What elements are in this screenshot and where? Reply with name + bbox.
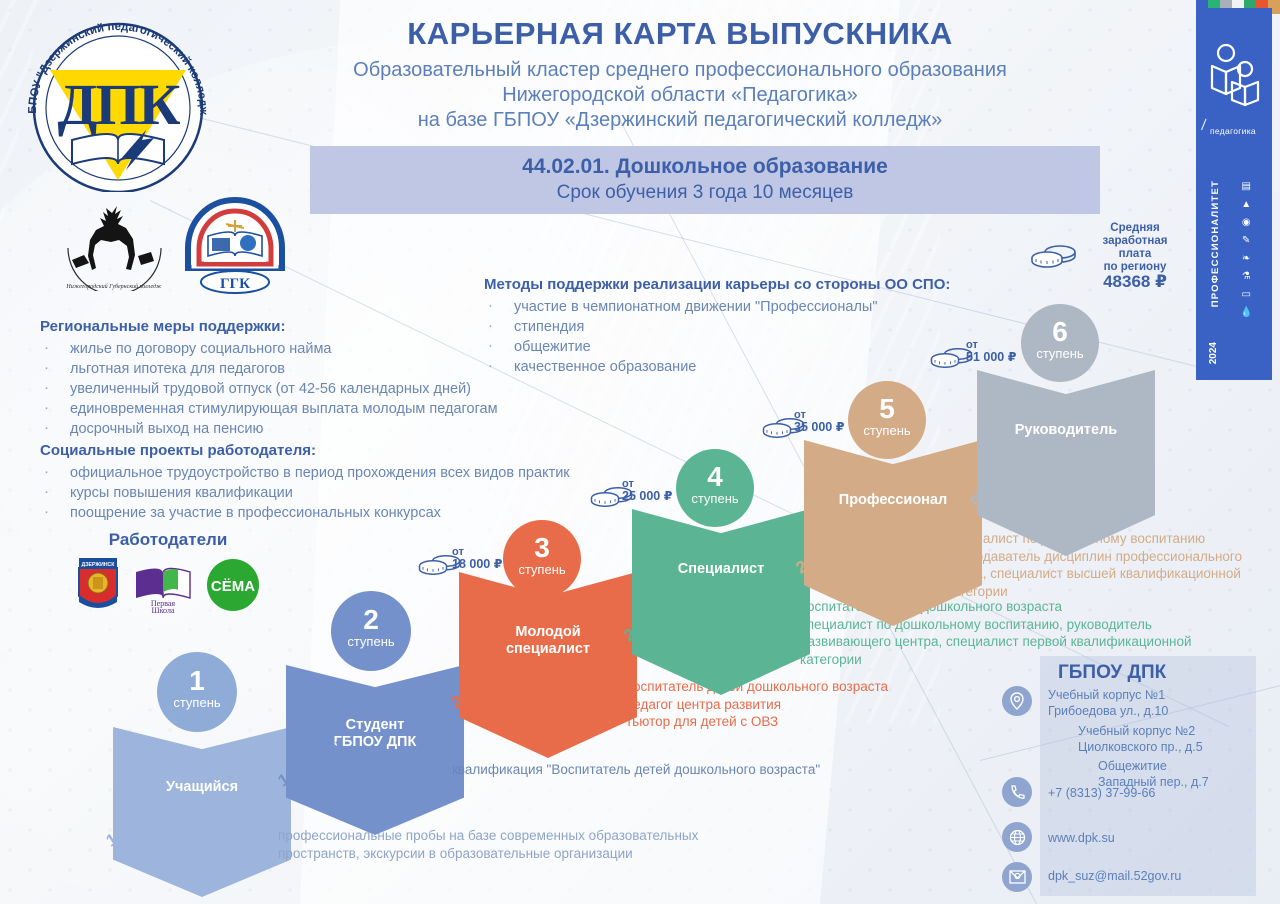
social-list: официальное трудоустройство в период про…	[40, 463, 620, 523]
regional-support-block: Региональные меры поддержки: жилье по до…	[40, 318, 600, 439]
list-item: участие в чемпионатном движении "Професс…	[484, 297, 1004, 317]
address-3-line-1: Общежитие	[1098, 758, 1209, 774]
list-item: жилье по договору социального найма	[40, 339, 600, 359]
address-1: Учебный корпус №1 Грибоедова ул., д.10	[1048, 687, 1168, 719]
subtitle-line-3: на базе ГБПОУ «Дзержинский педагогически…	[230, 108, 1130, 133]
globe-icon	[1002, 822, 1032, 852]
page-subtitle: Образовательный кластер среднего професс…	[230, 58, 1130, 133]
career-step-description-3: воспитатель детей дошкольного возрастапе…	[626, 678, 926, 731]
average-salary-amount: 48368 ₽	[1080, 275, 1190, 288]
sidebar-cluster-label: педагогика	[1210, 126, 1256, 136]
employer-logo-dzerzhinsk: ДЗЕРЖИНСК	[76, 556, 120, 614]
salary-amount: 35 000 ₽	[794, 421, 844, 433]
description-line: образовательной	[1038, 486, 1218, 504]
career-step-badge-1[interactable]: 1ступень	[157, 652, 237, 732]
phone-number[interactable]: +7 (8313) 37-99-66	[1048, 785, 1155, 801]
professionalitet-sidebar: педагогика ПРОФЕССИОНАЛИТЕТ 2024 ▤ ▲ ◉ ✎…	[1196, 8, 1272, 380]
average-salary-line-2: заработная	[1080, 235, 1190, 248]
step-number: 2	[331, 605, 411, 635]
sidebar-year: 2024	[1208, 342, 1219, 364]
step-word: ступень	[157, 696, 237, 710]
subtitle-line-2: Нижегородской области «Педагогика»	[230, 83, 1130, 108]
employer-logo-sema: СЁМА	[206, 558, 260, 612]
step-number: 3	[503, 533, 581, 563]
average-salary-callout: Средняя заработная плата по региону 4836…	[1080, 222, 1190, 288]
description-line: организации	[1038, 503, 1218, 521]
course-duration: Срок обучения 3 года 10 месяцев	[310, 179, 1100, 204]
step-number: 5	[848, 394, 926, 424]
infographic-poster: ГБПОУ "Дзержинский педагогический коллед…	[0, 0, 1280, 904]
social-heading: Социальные проекты работодателя:	[40, 442, 620, 459]
social-projects-block: Социальные проекты работодателя: официал…	[40, 442, 620, 523]
career-step-role-4: Специалист	[632, 561, 810, 578]
leaf-icon: ❧	[1242, 254, 1250, 264]
qualification-note: квалификация "Воспитатель детей дошкольн…	[452, 761, 912, 779]
description-line: преподаватель дисциплин профессиональног…	[946, 548, 1246, 566]
course-banner: 44.02.01. Дошкольное образование Срок об…	[310, 146, 1100, 214]
step-number: 6	[1021, 317, 1099, 347]
email-address[interactable]: dpk_suz@mail.52gov.ru	[1048, 868, 1181, 884]
card-icon: ▤	[1242, 182, 1251, 192]
address-2-line-2: Циолковского пр., д.5	[1078, 739, 1203, 755]
role-line: Профессионал	[804, 492, 982, 509]
employers-block: Работодатели ДЗЕРЖИНСК Первая Школа СЁМА	[48, 530, 288, 614]
drop-icon: 💧	[1240, 308, 1252, 318]
email-icon	[1002, 862, 1032, 892]
address-1-line-2: Грибоедова ул., д.10	[1048, 703, 1168, 719]
salary-amount: 25 000 ₽	[622, 490, 672, 502]
probes-line-1: профессиональные пробы на базе современн…	[278, 827, 758, 845]
role-line: Учащийся	[113, 779, 291, 796]
role-line: Специалист	[632, 561, 810, 578]
step-word: ступень	[676, 492, 754, 506]
svg-text:ГГК: ГГК	[220, 276, 250, 292]
career-step-badge-4[interactable]: 4ступень	[676, 449, 754, 527]
list-item: льготная ипотека для педагогов	[40, 359, 600, 379]
role-line: Руководитель	[977, 422, 1155, 439]
average-salary-line-3: плата	[1080, 248, 1190, 261]
employer-logo-pervaya-shkola: Первая Школа	[132, 556, 194, 614]
list-item: увеличенный трудовой отпуск (от 42-56 ка…	[40, 379, 600, 399]
svg-text:СЁМА: СЁМА	[211, 578, 255, 595]
flask-icon: ⚗	[1242, 272, 1251, 282]
description-line: специалист по дошкольному воспитанию, ру…	[800, 616, 1220, 634]
salary-amount: 18 000 ₽	[452, 558, 502, 570]
phone-icon	[1002, 777, 1032, 807]
salary-amount: 51 000 ₽	[966, 351, 1016, 363]
list-item: досрочный выход на пенсию	[40, 419, 600, 439]
career-step-role-1: Учащийся	[113, 779, 291, 796]
career-step-role-2: СтудентГБПОУ ДПК	[286, 717, 464, 751]
dpk-logo: ГБПОУ "Дзержинский педагогический коллед…	[14, 12, 219, 192]
career-step-badge-3[interactable]: 3ступень	[503, 520, 581, 598]
career-step-role-5: Профессионал	[804, 492, 982, 509]
employers-heading: Работодатели	[48, 530, 288, 550]
step-word: ступень	[848, 424, 926, 438]
list-item: курсы повышения квалификации	[40, 483, 620, 503]
reader-book-icon	[1208, 42, 1264, 110]
career-step-badge-6[interactable]: 6ступень	[1021, 304, 1099, 382]
bus-icon: ▭	[1242, 290, 1251, 300]
ngk-logo: Нижегородский Губернский колледж	[62, 196, 167, 291]
contact-title: ГБПОУ ДПК	[1058, 662, 1166, 684]
svg-text:Нижегородский Губернский колле: Нижегородский Губернский колледж	[65, 283, 162, 290]
step-number: 4	[676, 462, 754, 492]
pen-icon: ✎	[1242, 236, 1250, 246]
employers-logo-row: ДЗЕРЖИНСК Первая Школа СЁМА	[48, 556, 288, 614]
step-word: ступень	[503, 563, 581, 577]
career-step-salary-6: от51 000 ₽	[966, 339, 1016, 363]
target-icon: ◉	[1242, 218, 1251, 228]
career-step-salary-4: от25 000 ₽	[622, 478, 672, 502]
regional-list: жилье по договору социального наймальгот…	[40, 339, 600, 439]
sidebar-icon-column: ▤ ▲ ◉ ✎ ❧ ⚗ ▭ 💧	[1240, 182, 1252, 318]
list-item: официальное трудоустройство в период про…	[40, 463, 620, 483]
coins-icon-average-salary	[1030, 242, 1078, 268]
description-line: категории	[946, 583, 1246, 601]
role-line: Студент	[286, 717, 464, 734]
list-item: единовременная стимулирующая выплата мол…	[40, 399, 600, 419]
career-step-badge-5[interactable]: 5ступень	[848, 381, 926, 459]
average-salary-line-1: Средняя	[1080, 222, 1190, 235]
career-step-badge-2[interactable]: 2ступень	[331, 591, 411, 671]
description-line: цикла, специалист высшей квалификационно…	[946, 565, 1246, 583]
role-line: Молодой	[459, 624, 637, 641]
step-number: 1	[157, 666, 237, 696]
triangle-icon: ▲	[1241, 200, 1251, 210]
ggk-logo: ГГК	[178, 196, 293, 296]
career-step-role-3: Молодойспециалист	[459, 624, 637, 658]
location-icon	[1002, 686, 1032, 716]
website-link[interactable]: www.dpk.su	[1048, 830, 1115, 846]
probes-line-2: пространств, экскурсии в образовательные…	[278, 845, 758, 863]
description-line: тьютор для детей с ОВЗ	[626, 713, 926, 731]
career-step-salary-3: от18 000 ₽	[452, 546, 502, 570]
career-step-description-6: руководительобразовательнойорганизации	[1038, 468, 1218, 521]
svg-text:Школа: Школа	[152, 606, 175, 614]
methods-heading: Методы поддержки реализации карьеры со с…	[484, 276, 1004, 293]
regional-heading: Региональные меры поддержки:	[40, 318, 600, 335]
course-code: 44.02.01. Дошкольное образование	[310, 146, 1100, 179]
address-2: Учебный корпус №2 Циолковского пр., д.5	[1078, 723, 1203, 755]
description-line: педагог центра развития	[626, 696, 926, 714]
description-line: развивающего центра, специалист первой к…	[800, 633, 1220, 651]
professional-probes-note: профессиональные пробы на базе современн…	[278, 827, 758, 862]
role-line: специалист	[459, 641, 637, 658]
address-2-line-1: Учебный корпус №2	[1078, 723, 1203, 739]
svg-text:ДПК: ДПК	[57, 72, 180, 137]
page-title: КАРЬЕРНАЯ КАРТА ВЫПУСКНИКА	[260, 16, 1100, 52]
career-step-role-6: Руководитель	[977, 422, 1155, 439]
subtitle-line-1: Образовательный кластер среднего професс…	[230, 58, 1130, 83]
description-line: руководитель	[1038, 468, 1218, 486]
description-line: воспитатель детей дошкольного возраста	[626, 678, 926, 696]
step-word: ступень	[1021, 347, 1099, 361]
career-step-salary-5: от35 000 ₽	[794, 409, 844, 433]
step-word: ступень	[331, 635, 411, 649]
address-1-line-1: Учебный корпус №1	[1048, 687, 1168, 703]
sidebar-brand-vertical: ПРОФЕССИОНАЛИТЕТ	[1210, 180, 1221, 307]
